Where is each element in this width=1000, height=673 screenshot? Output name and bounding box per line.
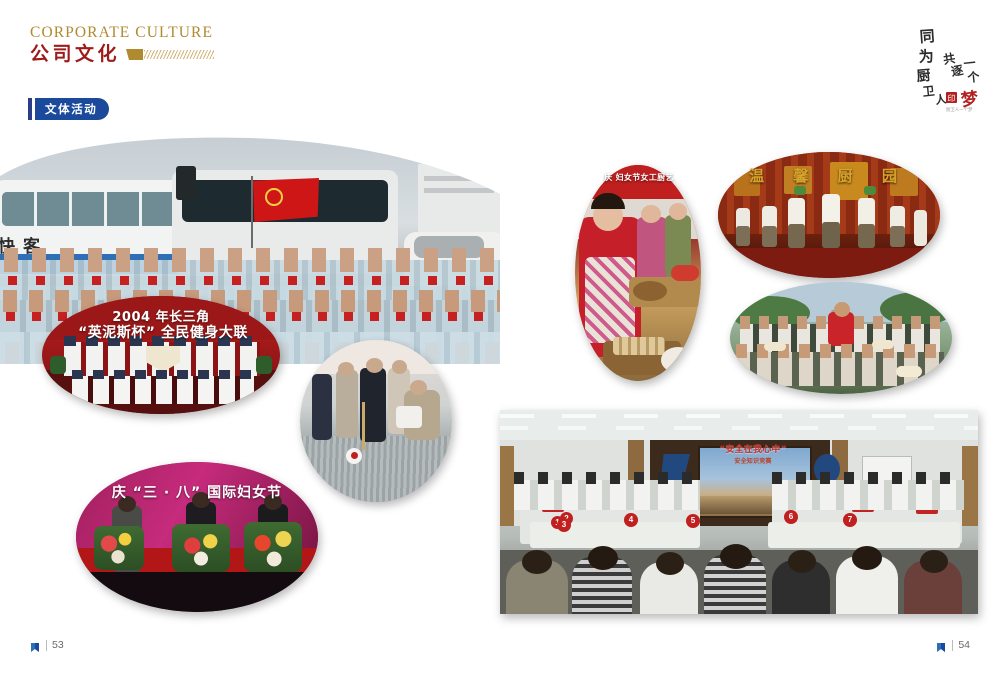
bookmark-icon — [30, 640, 41, 651]
page-title-english: CORPORATE CULTURE — [30, 24, 214, 41]
brochure-spread: CORPORATE CULTURE 公司文化 文体活动 同 为 厨 卫 人 共 … — [0, 0, 1000, 673]
decoration-block — [126, 49, 143, 60]
svg-text:逐: 逐 — [950, 63, 964, 79]
svg-text:卫: 卫 — [922, 84, 935, 99]
cooking-banner-text: 庆 妇女节女工厨艺 — [572, 172, 706, 183]
svg-text:厨卫人一个梦: 厨卫人一个梦 — [946, 107, 973, 113]
footer-left: 53 — [30, 640, 64, 651]
calligraphy-logo: 同 为 厨 卫 人 共 逐 一 个 梦 印 厨卫人一个梦 — [906, 18, 992, 114]
footer-right: 54 — [936, 640, 970, 651]
hiking-outing-group-photo — [730, 282, 952, 394]
svg-text:为: 为 — [918, 47, 934, 66]
stage-banner-text: 温 馨 厨 园 — [718, 165, 940, 186]
team-number-6: 6 — [784, 510, 798, 524]
svg-text:厨: 厨 — [916, 68, 931, 85]
bookmark-icon — [936, 640, 947, 651]
svg-text:印: 印 — [948, 94, 956, 103]
svg-text:个: 个 — [966, 69, 981, 85]
decoration-hatch — [144, 50, 214, 59]
section-mark — [28, 98, 32, 120]
page-title-chinese: 公司文化 — [30, 44, 120, 65]
section-badge-label: 文体活动 — [35, 98, 109, 120]
section-badge: 文体活动 — [28, 98, 109, 120]
team-number-5: 5 — [686, 514, 700, 528]
team-number-7: 7 — [843, 513, 857, 527]
page-title: CORPORATE CULTURE 公司文化 — [30, 24, 214, 65]
team-number-3: 3 — [557, 518, 571, 532]
cooking-contest-photo — [575, 165, 701, 381]
title-decoration-bar — [126, 49, 214, 60]
svg-text:一: 一 — [963, 56, 976, 71]
womens-day-banner-text: 庆 “三 · 八” 国际妇女节 — [70, 482, 324, 502]
svg-text:同: 同 — [919, 27, 935, 46]
sports-banner-line2: “英泥斯杯” 全民健身大联 — [38, 322, 288, 342]
team-number-4: 4 — [624, 513, 638, 527]
safety-screen-title: “安全在我心中” — [698, 442, 808, 455]
page-number-right: 54 — [952, 640, 970, 651]
safety-knowledge-contest-photo — [500, 410, 978, 614]
page-number-left: 53 — [46, 640, 64, 651]
safety-screen-subtitle: 安全知识竞赛 — [698, 456, 808, 465]
gateball-elderly-photo — [300, 340, 452, 502]
